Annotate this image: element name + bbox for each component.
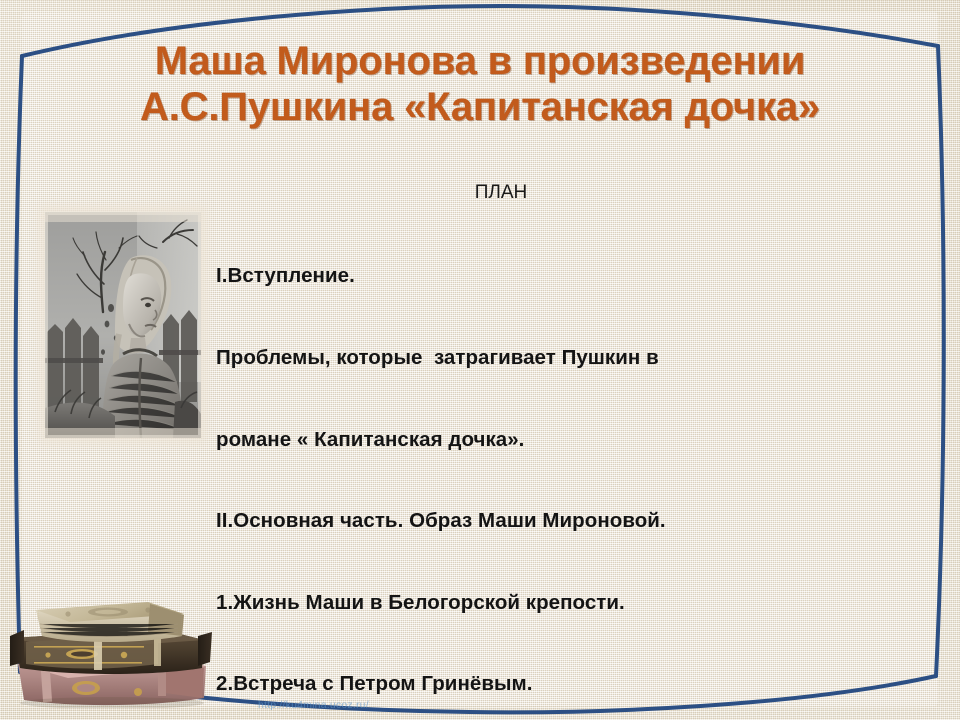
plan-line: 1.Жизнь Маши в Белогорской крепости. <box>216 589 906 616</box>
books-illustration-graphic <box>8 580 213 708</box>
page-title-line-2: А.С.Пушкина «Капитанская дочка» <box>40 84 920 130</box>
portrait-photo-graphic <box>45 212 201 438</box>
plan-list: I.Вступление. Проблемы, которые затрагив… <box>216 208 906 720</box>
books-illustration <box>8 580 213 708</box>
footer-url-link[interactable]: http://ku4mina.ucoz.ru/ <box>258 699 369 711</box>
portrait-photo <box>45 212 201 438</box>
plan-line: II.Основная часть. Образ Маши Мироновой. <box>216 507 906 534</box>
plan-line: 2.Встреча с Петром Гринёвым. <box>216 670 906 697</box>
plan-heading: ПЛАН <box>216 182 876 204</box>
page-title: Маша Миронова в произведении А.С.Пушкина… <box>40 38 920 130</box>
plan-line: романе « Капитанская дочка». <box>216 426 906 453</box>
plan-line: I.Вступление. <box>216 262 906 289</box>
slide-canvas: Маша Миронова в произведении А.С.Пушкина… <box>0 0 960 720</box>
plan-line: Проблемы, которые затрагивает Пушкин в <box>216 344 906 371</box>
page-title-line-1: Маша Миронова в произведении <box>40 38 920 84</box>
